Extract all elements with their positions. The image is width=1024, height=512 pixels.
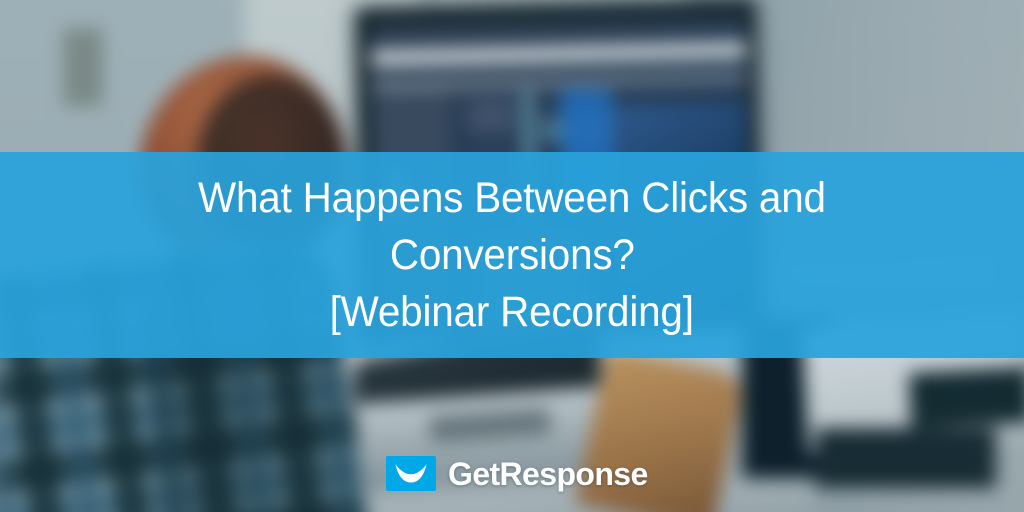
promo-banner-image: What Happens Between Clicks and Conversi… — [0, 0, 1024, 512]
headline-line-1: What Happens Between Clicks and — [198, 170, 826, 227]
getresponse-wordmark: GetResponse — [448, 457, 648, 491]
headline-line-3: [Webinar Recording] — [330, 284, 694, 341]
getresponse-smile-envelope-icon — [386, 456, 436, 491]
headline-line-2: Conversions? — [390, 227, 635, 284]
getresponse-logo: GetResponse — [386, 456, 648, 491]
headline-block: What Happens Between Clicks and Conversi… — [0, 152, 1024, 358]
